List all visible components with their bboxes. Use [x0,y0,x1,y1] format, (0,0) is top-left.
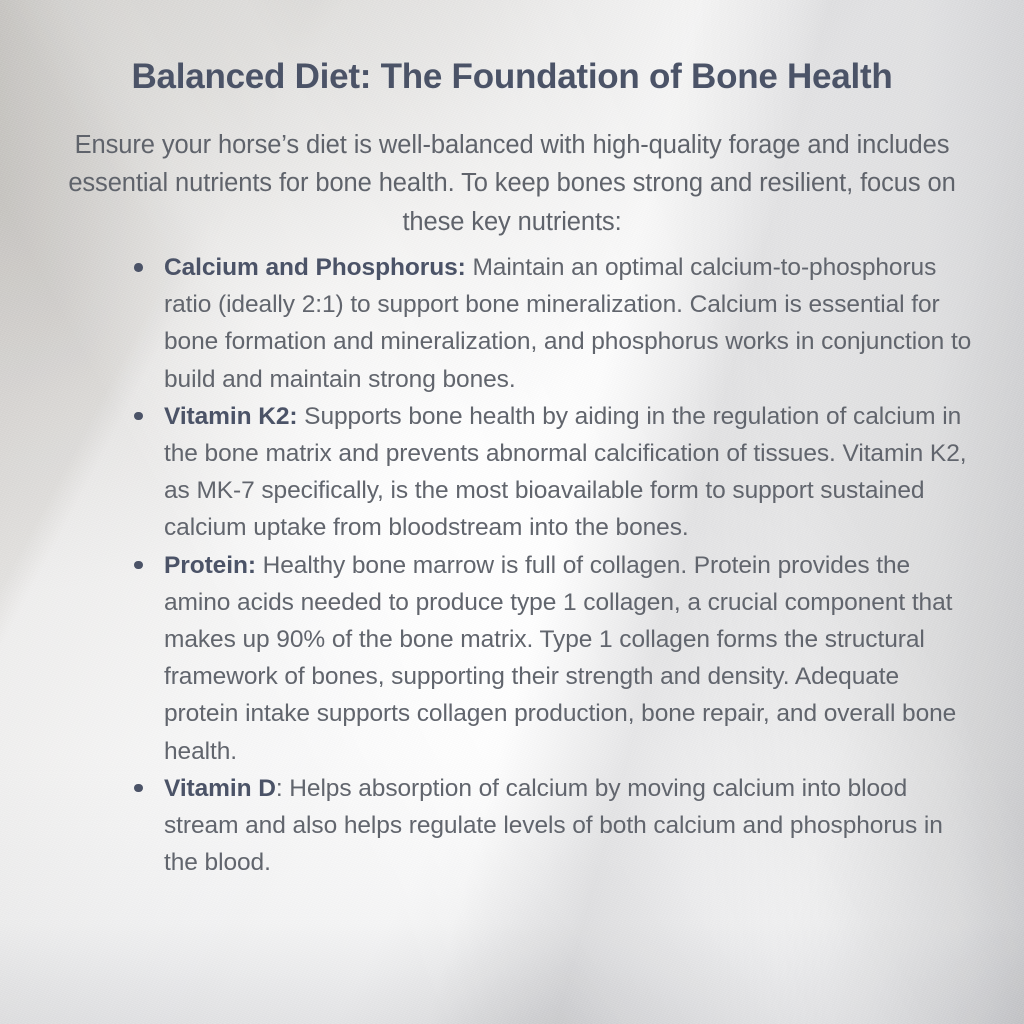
list-item-lead: Calcium and Phosphorus: [164,254,466,281]
intro-paragraph: Ensure your horse’s diet is well-balance… [62,126,962,242]
list-item-body: Healthy bone marrow is full of collagen.… [164,552,956,765]
list-item-lead: Vitamin K2: [164,403,297,430]
list-item-lead: Vitamin D [164,775,276,802]
content-area: Balanced Diet: The Foundation of Bone He… [0,0,1024,1024]
bullet-dot-icon [134,784,143,793]
bullet-dot-icon [134,412,143,421]
page-title: Balanced Diet: The Foundation of Bone He… [0,53,1024,101]
list-item: Protein: Healthy bone marrow is full of … [128,547,978,770]
nutrient-list: Calcium and Phosphorus: Maintain an opti… [128,249,978,881]
list-item-body: : Helps absorption of calcium by moving … [164,775,943,876]
infographic-card: Balanced Diet: The Foundation of Bone He… [0,0,1024,1024]
list-item: Vitamin K2: Supports bone health by aidi… [128,398,978,547]
list-item-lead: Protein: [164,552,256,579]
list-item: Calcium and Phosphorus: Maintain an opti… [128,249,978,398]
list-item: Vitamin D: Helps absorption of calcium b… [128,770,978,882]
bullet-dot-icon [134,561,143,570]
bullet-dot-icon [134,263,143,272]
